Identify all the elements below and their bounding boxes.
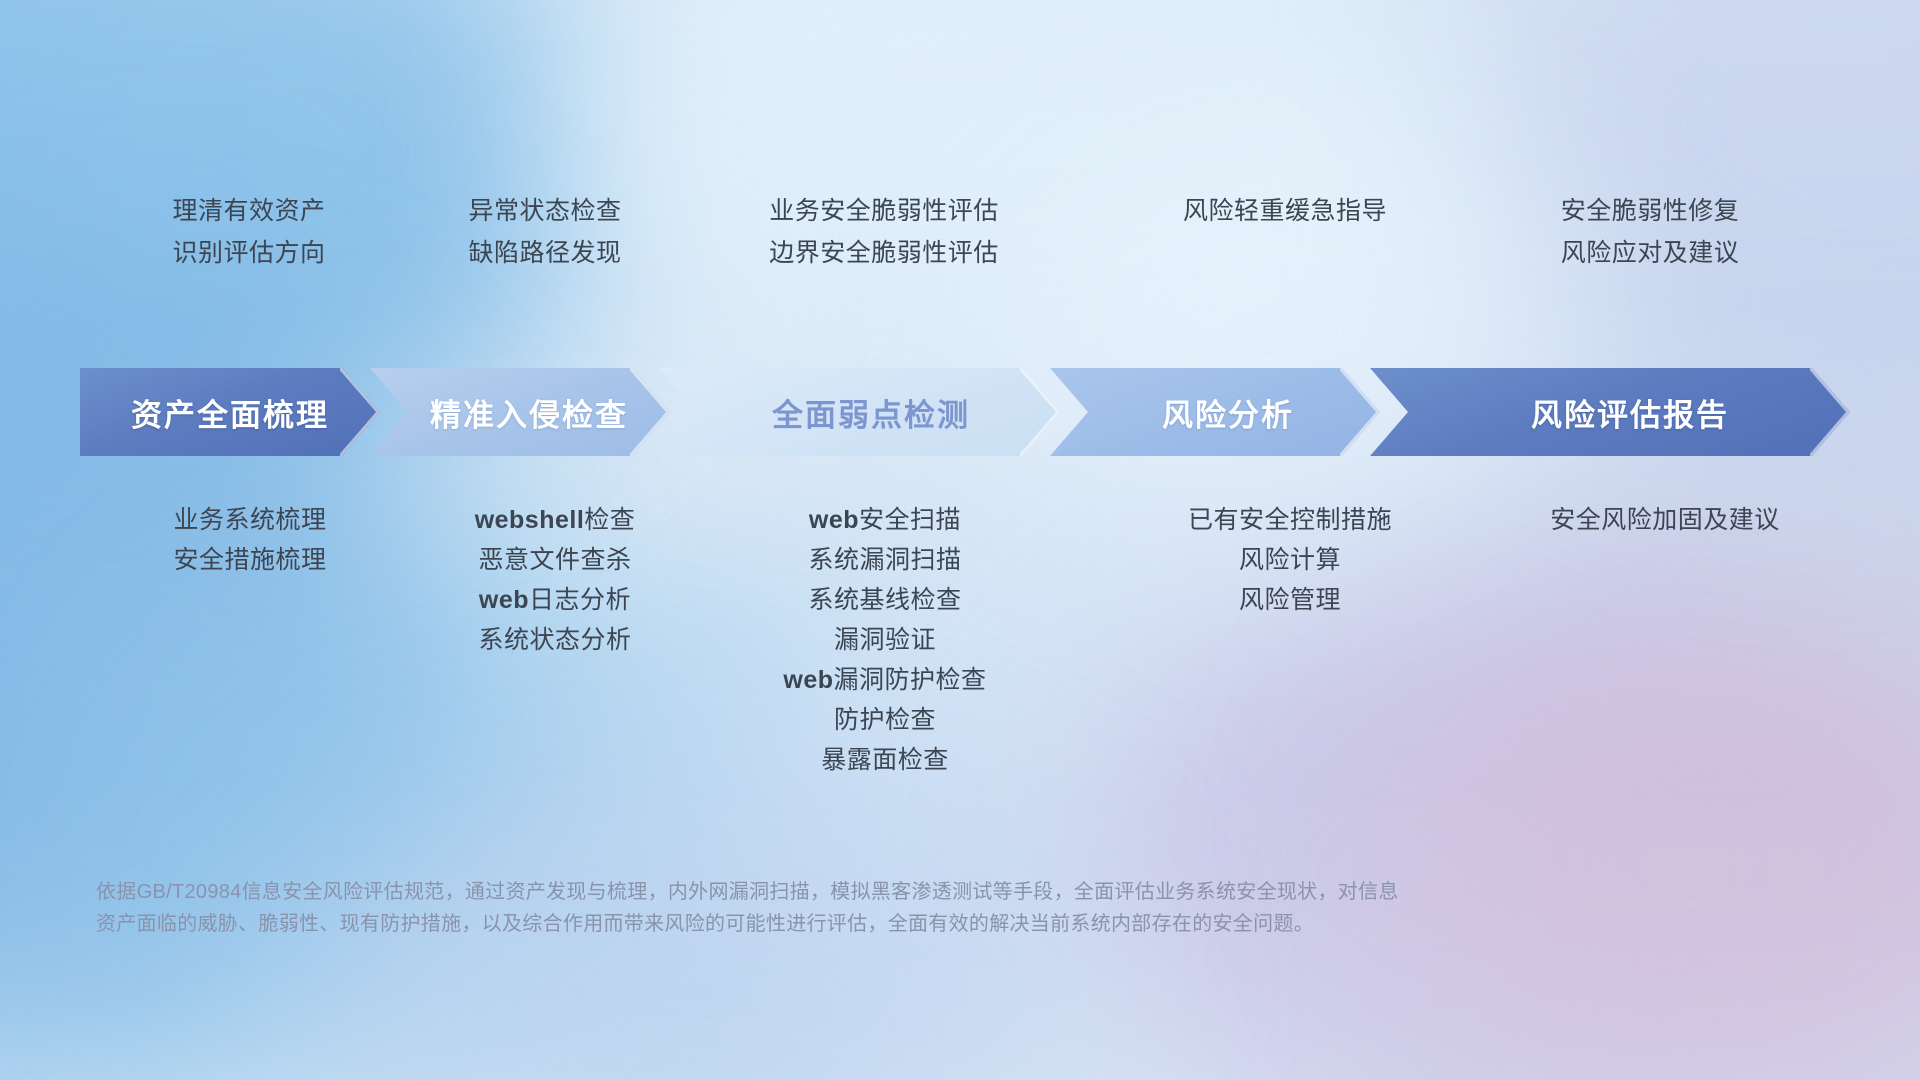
stage-outcomes-risk-analysis: 风险轻重缓急指导: [1060, 190, 1410, 232]
activity-item: 已有安全控制措施: [1188, 500, 1392, 540]
outcome-label: 安全脆弱性修复: [1561, 190, 1740, 232]
footer-line-1: 依据GB/T20984信息安全风险评估规范，通过资产发现与梳理，内外网漏洞扫描，…: [96, 876, 1626, 908]
stage-outcomes-asset-inventory: 理清有效资产识别评估方向: [80, 190, 380, 274]
outcome-label: 风险轻重缓急指导: [1183, 190, 1387, 232]
stage-activities-asset-inventory: 业务系统梳理安全措施梳理: [80, 500, 380, 580]
outcome-label: 缺陷路径发现: [468, 232, 621, 274]
activity-item: web日志分析: [479, 580, 631, 620]
activity-item: 风险管理: [1239, 580, 1341, 620]
outcome-label: 异常状态检查: [468, 190, 621, 232]
process-diagram: 理清有效资产识别评估方向异常状态检查缺陷路径发现业务安全脆弱性评估边界安全脆弱性…: [0, 0, 1920, 1080]
stage-outcomes-row: 理清有效资产识别评估方向异常状态检查缺陷路径发现业务安全脆弱性评估边界安全脆弱性…: [80, 190, 1840, 274]
stage-chevron-intrusion-check[interactable]: 精准入侵检查: [370, 368, 670, 456]
stage-title: 全面弱点检测: [772, 390, 970, 435]
activity-item: 业务系统梳理: [173, 500, 326, 540]
stage-title: 精准入侵检查: [430, 390, 628, 435]
activity-prefix: web: [783, 666, 833, 694]
footer-description: 依据GB/T20984信息安全风险评估规范，通过资产发现与梳理，内外网漏洞扫描，…: [96, 876, 1626, 940]
activity-rest: 检查: [584, 506, 635, 534]
activity-item: web安全扫描: [809, 500, 961, 540]
outcome-label: 业务安全脆弱性评估: [769, 190, 999, 232]
activity-item: 防护检查: [834, 700, 936, 740]
activity-item: webshell检查: [475, 500, 636, 540]
activity-item: 恶意文件查杀: [478, 540, 631, 580]
chevron-edge-highlight: [1810, 368, 1850, 456]
activity-item: web漏洞防护检查: [783, 660, 986, 700]
stage-chevron-band: 资产全面梳理精准入侵检查全面弱点检测风险分析风险评估报告: [80, 368, 1850, 456]
activity-rest: 日志分析: [529, 586, 631, 614]
activity-prefix: web: [809, 506, 859, 534]
activity-item: 漏洞验证: [834, 620, 936, 660]
activity-prefix: webshell: [475, 506, 585, 534]
stage-activities-row: 业务系统梳理安全措施梳理webshell检查恶意文件查杀web日志分析系统状态分…: [80, 500, 1840, 780]
stage-chevron-asset-inventory[interactable]: 资产全面梳理: [80, 368, 380, 456]
outcome-label: 边界安全脆弱性评估: [769, 232, 999, 274]
stage-outcomes-weakness-detection: 业务安全脆弱性评估边界安全脆弱性评估: [670, 190, 1060, 274]
outcome-label: 识别评估方向: [172, 232, 325, 274]
activity-rest: 安全扫描: [859, 506, 961, 534]
stage-chevron-risk-report[interactable]: 风险评估报告: [1370, 368, 1850, 456]
stage-chevron-weakness-detection[interactable]: 全面弱点检测: [660, 368, 1060, 456]
activity-item: 系统漏洞扫描: [808, 540, 961, 580]
stage-outcomes-intrusion-check: 异常状态检查缺陷路径发现: [380, 190, 670, 274]
activity-item: 系统状态分析: [478, 620, 631, 660]
activity-item: 风险计算: [1239, 540, 1341, 580]
stage-activities-weakness-detection: web安全扫描系统漏洞扫描系统基线检查漏洞验证web漏洞防护检查防护检查暴露面检…: [670, 500, 1060, 780]
stage-activities-risk-report: 安全风险加固及建议: [1410, 500, 1840, 540]
chevron-edge-highlight: [630, 368, 670, 456]
outcome-label: 风险应对及建议: [1561, 232, 1740, 274]
stage-outcomes-risk-report: 安全脆弱性修复风险应对及建议: [1410, 190, 1840, 274]
activity-item: 安全风险加固及建议: [1550, 500, 1780, 540]
outcome-label: 理清有效资产: [172, 190, 325, 232]
stage-title: 风险评估报告: [1531, 390, 1729, 435]
footer-line-2: 资产面临的威胁、脆弱性、现有防护措施，以及综合作用而带来风险的可能性进行评估，全…: [96, 908, 1626, 940]
chevron-edge-highlight: [1020, 368, 1060, 456]
stage-activities-intrusion-check: webshell检查恶意文件查杀web日志分析系统状态分析: [380, 500, 670, 660]
activity-item: 系统基线检查: [808, 580, 961, 620]
stage-title: 风险分析: [1162, 390, 1294, 435]
activity-item: 安全措施梳理: [173, 540, 326, 580]
activity-item: 暴露面检查: [821, 740, 949, 780]
activity-rest: 漏洞防护检查: [834, 666, 987, 694]
chevron-edge-highlight: [340, 368, 380, 456]
stage-chevron-risk-analysis[interactable]: 风险分析: [1050, 368, 1380, 456]
stage-title: 资产全面梳理: [131, 390, 329, 435]
chevron-edge-highlight: [1340, 368, 1380, 456]
activity-prefix: web: [479, 586, 529, 614]
stage-activities-risk-analysis: 已有安全控制措施风险计算风险管理: [1060, 500, 1410, 620]
